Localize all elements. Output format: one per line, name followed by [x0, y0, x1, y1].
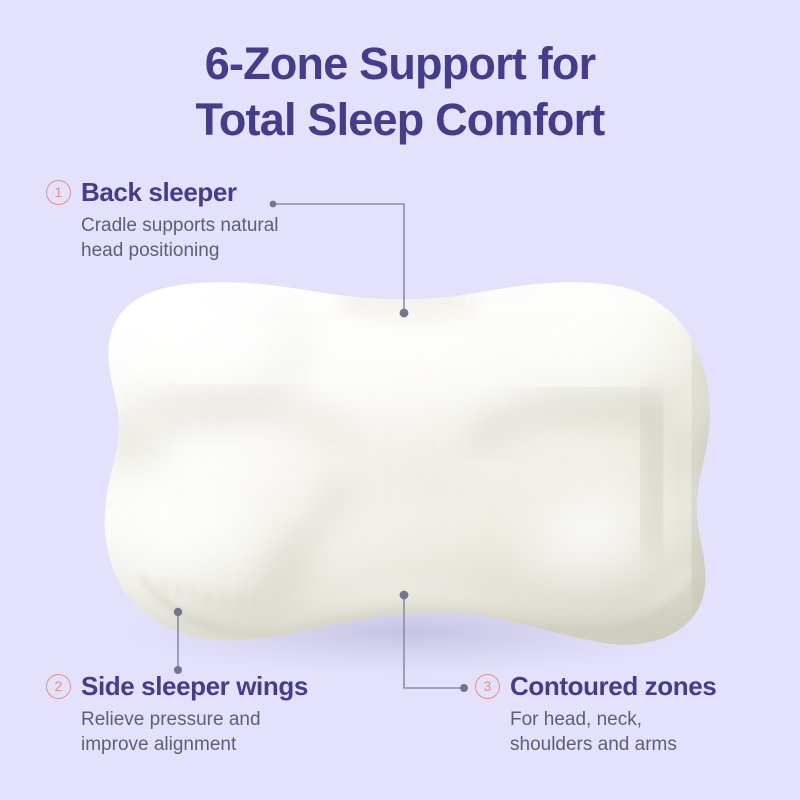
callout-3-desc-line-2: shoulders and arms: [510, 732, 716, 757]
callout-1-number-badge: 1: [46, 180, 71, 205]
callout-3-head: 3 Contoured zones: [475, 672, 716, 701]
callout-2-title: Side sleeper wings: [81, 672, 308, 701]
callout-2-number-badge: 2: [46, 674, 71, 699]
callout-2-desc-line-1: Relieve pressure and: [81, 707, 308, 732]
callout-3-desc-line-1: For head, neck,: [510, 707, 716, 732]
page-title: 6-Zone Support for Total Sleep Comfort: [0, 36, 800, 148]
callout-1-description: Cradle supports natural head positioning: [81, 213, 279, 263]
callout-1-title: Back sleeper: [81, 178, 237, 207]
callout-2-head: 2 Side sleeper wings: [46, 672, 308, 701]
callout-contoured-zones: 3 Contoured zones For head, neck, should…: [475, 672, 716, 757]
callout-3-description: For head, neck, shoulders and arms: [510, 707, 716, 757]
page-title-line-1: 6-Zone Support for: [0, 36, 800, 92]
callout-2-desc-line-2: improve alignment: [81, 732, 308, 757]
callout-1-head: 1 Back sleeper: [46, 178, 279, 207]
callout-side-sleeper-wings: 2 Side sleeper wings Relieve pressure an…: [46, 672, 308, 757]
callout-back-sleeper: 1 Back sleeper Cradle supports natural h…: [46, 178, 279, 263]
callout-1-desc-line-1: Cradle supports natural: [81, 213, 279, 238]
infographic-canvas: 6-Zone Support for Total Sleep Comfort: [0, 0, 800, 800]
callout-3-title: Contoured zones: [510, 672, 716, 701]
page-title-line-2: Total Sleep Comfort: [0, 92, 800, 148]
callout-1-desc-line-2: head positioning: [81, 238, 279, 263]
callout-3-number-badge: 3: [475, 674, 500, 699]
callout-2-description: Relieve pressure and improve alignment: [81, 707, 308, 757]
